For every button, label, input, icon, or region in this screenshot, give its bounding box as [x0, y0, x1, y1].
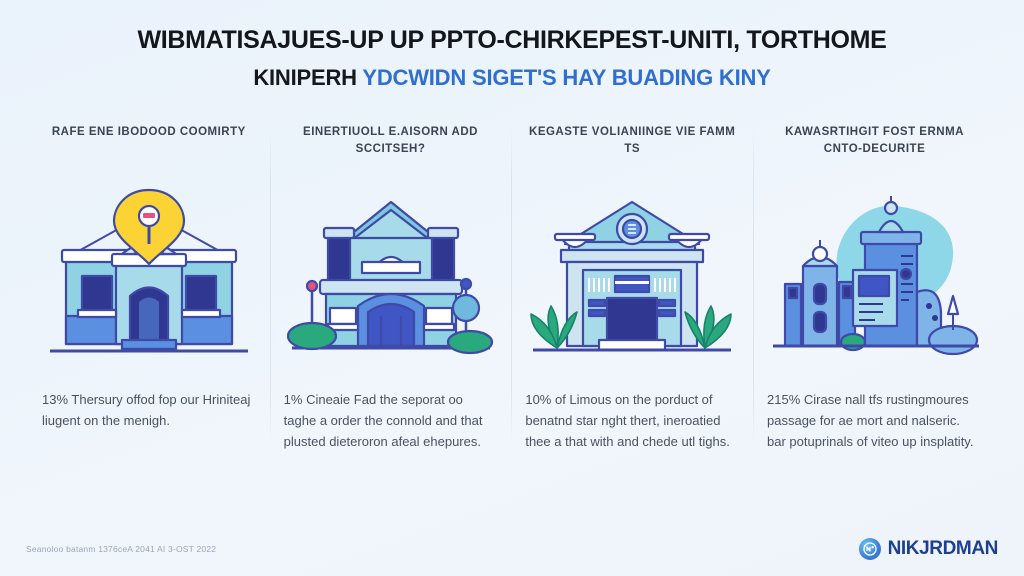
source-note: Seanoloo batanm 1376ceA 2041 AI 3-OST 20… [26, 544, 216, 554]
infographic-page: WIBMATISAJUES-UP UP PPTO-CHIRKEPEST-UNIT… [0, 0, 1024, 576]
column-3-illustration [525, 178, 739, 363]
footer: Seanoloo batanm 1376ceA 2041 AI 3-OST 20… [0, 528, 1024, 576]
column-3-body: 10% of Limous on the porduct of benatnd … [525, 389, 739, 452]
subtitle-rest: YDCWIDN SIGET'S HAY BUADING KINY [362, 65, 770, 90]
column-4-heading: KAWASRTIHGIT FOST ERNMA CNTO-DECURITE [767, 120, 982, 178]
column-2-body: 1% Cineaie Fad the seporat oo taghe a or… [284, 389, 498, 452]
column-4-illustration [767, 178, 982, 363]
page-title: WIBMATISAJUES-UP UP PPTO-CHIRKEPEST-UNIT… [50, 26, 974, 56]
column-1-illustration [42, 178, 256, 363]
column-3-heading: KEGASTE VOLIANIINGE VIE FAMM TS [525, 120, 739, 178]
column-4-body: 215% Cirase nall tfs rustingmoures passa… [767, 389, 982, 452]
columns-container: RAFE ENE IBODOOD COOMIRTY [28, 120, 996, 452]
column-2-illustration [284, 178, 498, 363]
two-storey-house-icon [286, 188, 496, 363]
column-1-heading: RAFE ENE IBODOOD COOMIRTY [42, 120, 256, 178]
column-1-body: 13% Thersury offod fop our Hriniteaj liu… [42, 389, 256, 431]
brand-name: NIKJRDMAN [888, 538, 998, 560]
column-2: EINERTIUOLL E.AISORN ADD SCCITSEH? [270, 120, 512, 452]
government-building-with-pin-icon [44, 188, 254, 363]
header: WIBMATISAJUES-UP UP PPTO-CHIRKEPEST-UNIT… [0, 0, 1024, 90]
column-1: RAFE ENE IBODOOD COOMIRTY [28, 120, 270, 452]
column-2-heading: EINERTIUOLL E.AISORN ADD SCCITSEH? [284, 120, 498, 178]
brand-logo: NIKJRDMAN [859, 538, 998, 560]
column-4: KAWASRTIHGIT FOST ERNMA CNTO-DECURITE [753, 120, 996, 452]
city-skyline-towers-icon [767, 188, 982, 363]
subtitle-lead: KINIPERH [253, 65, 362, 90]
courthouse-with-scales-icon [527, 188, 737, 363]
page-subtitle: KINIPERH YDCWIDN SIGET'S HAY BUADING KIN… [50, 65, 974, 91]
circular-logo-mark-icon [859, 538, 881, 560]
column-3: KEGASTE VOLIANIINGE VIE FAMM TS [511, 120, 753, 452]
